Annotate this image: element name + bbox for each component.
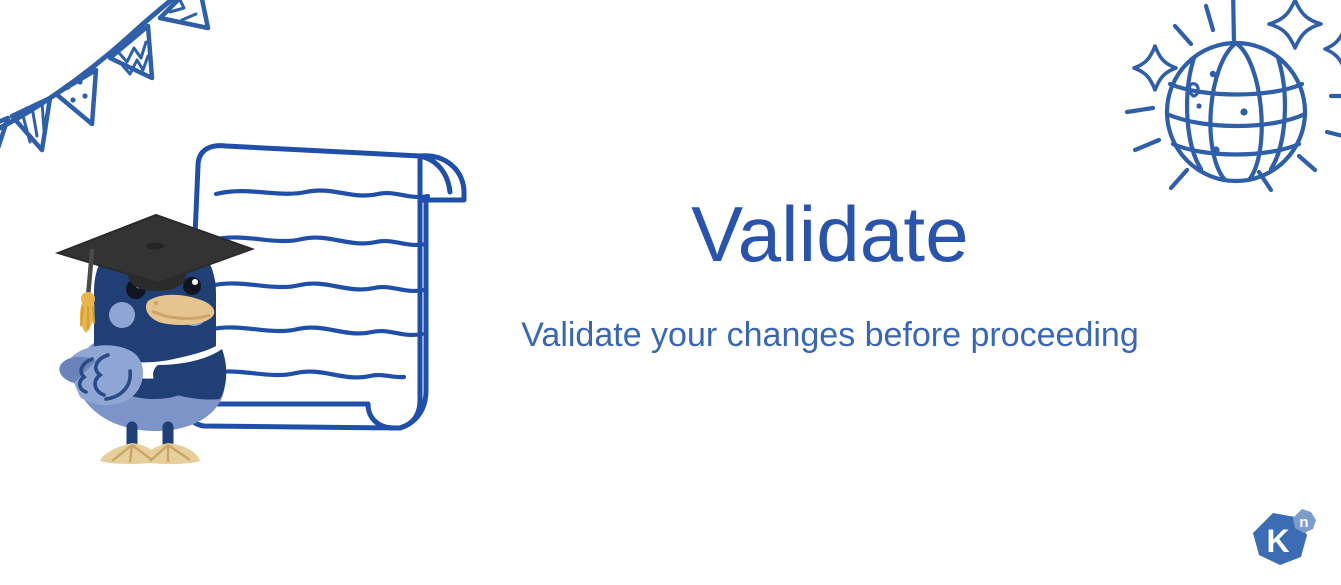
graduate-bird-mascot-icon bbox=[52, 193, 267, 468]
hero-text-block: Validate Validate your changes before pr… bbox=[470, 195, 1190, 356]
slide-canvas: Validate Validate your changes before pr… bbox=[0, 0, 1341, 585]
page-subtitle: Validate your changes before proceeding bbox=[470, 273, 1190, 356]
kn-brand-logo: K n bbox=[1247, 507, 1319, 573]
hero-illustration bbox=[52, 138, 462, 468]
disco-ball-icon bbox=[1113, 0, 1341, 227]
page-title: Validate bbox=[470, 195, 1190, 273]
logo-letter-k: K bbox=[1266, 523, 1289, 559]
logo-letter-n: n bbox=[1299, 514, 1308, 531]
